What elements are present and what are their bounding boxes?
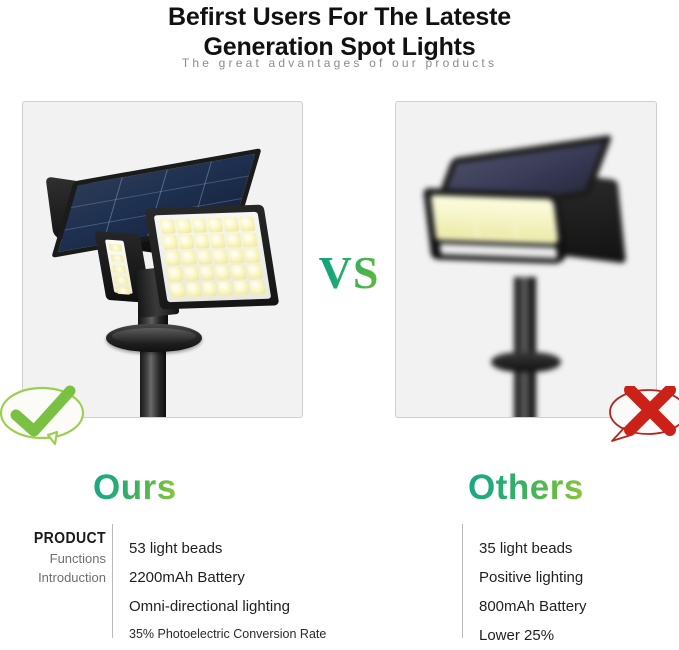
column-heading-others: Others [468, 468, 584, 508]
lamp-head-assembly [49, 164, 274, 314]
list-item: 53 light beads [129, 534, 429, 563]
flange-screw-hole [122, 334, 128, 338]
lamp-base-flange [106, 324, 202, 352]
divider-left [112, 524, 113, 638]
product-comparison-page: Befirst Users For The Lateste Generation… [0, 0, 679, 638]
side-led-strip [105, 239, 133, 293]
feature-list-ours: 53 light beads 2200mAh Battery Omni-dire… [129, 534, 429, 647]
list-item: Lower 25% [479, 621, 679, 650]
solar-spot-light-illustration-ours [23, 102, 302, 417]
product-photo-others [396, 102, 656, 417]
page-title: Befirst Users For The Lateste Generation… [0, 0, 679, 62]
competitor-head-assembly [418, 142, 630, 292]
product-image-panel-others [395, 101, 657, 418]
product-label-line-1: Functions [8, 550, 106, 567]
flange-screw-hole [180, 334, 186, 338]
page-title-line-1: Befirst Users For The Lateste [0, 2, 679, 32]
list-item: 35 light beads [479, 534, 679, 563]
product-photo-ours [23, 102, 302, 417]
page-subtitle: The great advantages of our products [0, 56, 679, 70]
product-functions-label: PRODUCT Functions Introduction [8, 530, 106, 586]
list-item: 2200mAh Battery [129, 563, 429, 592]
list-item: Positive lighting [479, 563, 679, 592]
check-badge-icon [0, 385, 94, 447]
vs-divider-label: VS [303, 246, 395, 299]
lamp-led-housing [145, 205, 280, 310]
competitor-lamp-pole [514, 277, 536, 417]
competitor-led-housing [423, 188, 568, 264]
competitor-spot-light-illustration [396, 102, 656, 417]
competitor-led-strip-array [431, 195, 559, 244]
product-image-panel-ours [22, 101, 303, 418]
list-item: 800mAh Battery [479, 592, 679, 621]
x-badge-icon [598, 386, 679, 448]
divider-right [462, 524, 463, 638]
competitor-base-flange [491, 352, 561, 372]
feature-list-others: 35 light beads Positive lighting 800mAh … [479, 534, 679, 650]
list-item: 35% Photoelectric Conversion Rate [129, 621, 429, 647]
product-label-line-2: Introduction [8, 569, 106, 586]
list-item: Omni-directional lighting [129, 592, 429, 621]
led-bead-array [154, 212, 271, 303]
product-label-kicker: PRODUCT [20, 530, 106, 548]
column-heading-ours: Ours [93, 468, 177, 508]
competitor-housing-lip [440, 244, 558, 259]
